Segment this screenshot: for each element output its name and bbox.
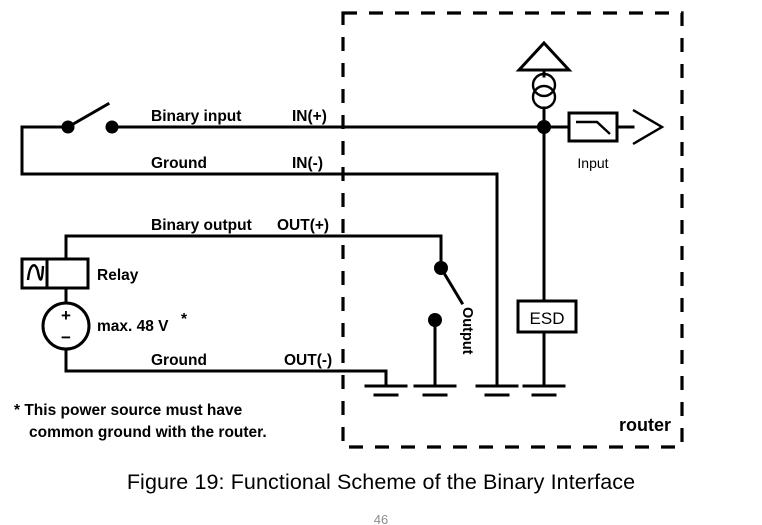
protection-diode-icon xyxy=(519,43,569,70)
label-voltage-asterisk: * xyxy=(181,311,188,328)
label-voltage: max. 48 V xyxy=(97,318,169,335)
figure-caption: Figure 19: Functional Scheme of the Bina… xyxy=(0,470,762,495)
output-switch-blade[interactable] xyxy=(441,268,462,303)
label-router: router xyxy=(619,415,671,435)
schmitt-trigger-body xyxy=(569,113,617,141)
footnote-line-2: common ground with the router. xyxy=(29,424,267,441)
ground-symbol-in-minus xyxy=(477,386,517,395)
label-out-minus: OUT(-) xyxy=(284,352,332,369)
input-stage-label: Input xyxy=(577,155,608,171)
binary-input-switch-pivot-node xyxy=(62,121,75,134)
label-binary-input: Binary input xyxy=(151,108,241,125)
label-in-plus: IN(+) xyxy=(292,108,327,125)
relay-body xyxy=(22,259,88,288)
ground-symbol-output-contact xyxy=(415,386,455,395)
power-source-minus-label: − xyxy=(61,328,71,347)
label-in-minus: IN(-) xyxy=(292,155,323,172)
label-relay: Relay xyxy=(97,267,139,284)
page-number: 46 xyxy=(0,512,762,525)
router-boundary-box xyxy=(343,13,682,447)
output-switch-label: Output xyxy=(459,307,475,355)
ground-symbol-esd xyxy=(524,386,564,395)
label-ground-in: Ground xyxy=(151,155,207,172)
input-signal-arrow xyxy=(633,110,662,144)
power-source-plus-label: + xyxy=(61,306,71,325)
label-ground-out: Ground xyxy=(151,352,207,369)
esd-label: ESD xyxy=(530,309,565,328)
figure-binary-interface: + − Output ESD xyxy=(0,0,762,525)
binary-input-switch-blade[interactable] xyxy=(68,104,108,127)
schematic-diagram: + − Output ESD xyxy=(0,0,762,470)
ground-symbol-out-minus xyxy=(366,386,406,395)
label-out-plus: OUT(+) xyxy=(277,217,329,234)
footnote-line-1: * This power source must have xyxy=(14,402,243,419)
label-binary-output: Binary output xyxy=(151,217,252,234)
